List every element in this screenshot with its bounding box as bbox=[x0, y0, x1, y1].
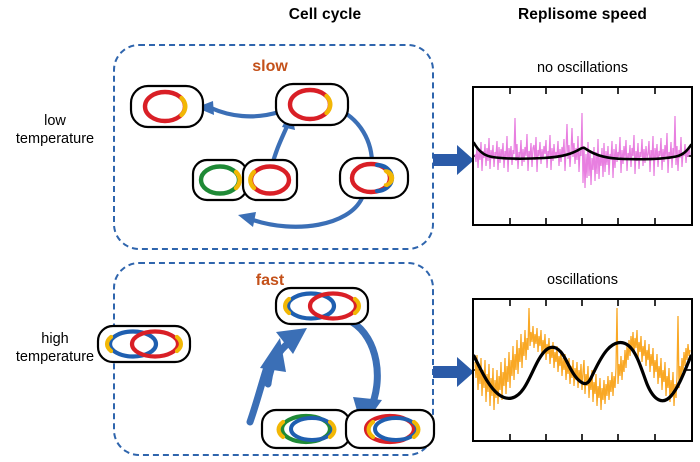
cell-fast-daughter bbox=[98, 326, 190, 362]
plot-canvas-low-temperature bbox=[474, 88, 691, 224]
plot-replisome-speed-low-temperature bbox=[472, 86, 693, 226]
cell-fast-top bbox=[276, 288, 368, 324]
plot-title-oscillations: oscillations bbox=[470, 272, 695, 288]
block-arrow-fast-to-plot bbox=[433, 355, 475, 389]
plot-replisome-speed-high-temperature bbox=[472, 298, 693, 442]
row-label-low-temperature-line2: temperature bbox=[2, 130, 108, 148]
arrow-slow-to-daughter bbox=[196, 101, 279, 116]
trace-noise-high-temperature bbox=[475, 308, 690, 410]
row-label-low-temperature: low temperature bbox=[2, 112, 108, 148]
cell-fast-divided bbox=[262, 410, 434, 448]
header-replisome-speed: Replisome speed bbox=[470, 6, 695, 24]
trace-noise-low-temperature bbox=[475, 113, 690, 188]
cell-slow-divided bbox=[193, 160, 297, 200]
header-cell-cycle: Cell cycle bbox=[180, 6, 470, 24]
plot-canvas-high-temperature bbox=[474, 300, 691, 440]
row-label-low-temperature-line1: low bbox=[2, 112, 108, 130]
cell-cycle-diagram-fast bbox=[90, 262, 435, 452]
block-arrow-slow-to-plot bbox=[433, 143, 475, 177]
plot-title-no-oscillations: no oscillations bbox=[470, 60, 695, 76]
cell-cycle-diagram-slow bbox=[113, 44, 430, 246]
cell-slow-top bbox=[276, 84, 348, 125]
cell-slow-replicating bbox=[340, 158, 408, 198]
arrow-slow-right-to-divided bbox=[238, 198, 362, 227]
cell-slow-daughter bbox=[131, 86, 203, 127]
